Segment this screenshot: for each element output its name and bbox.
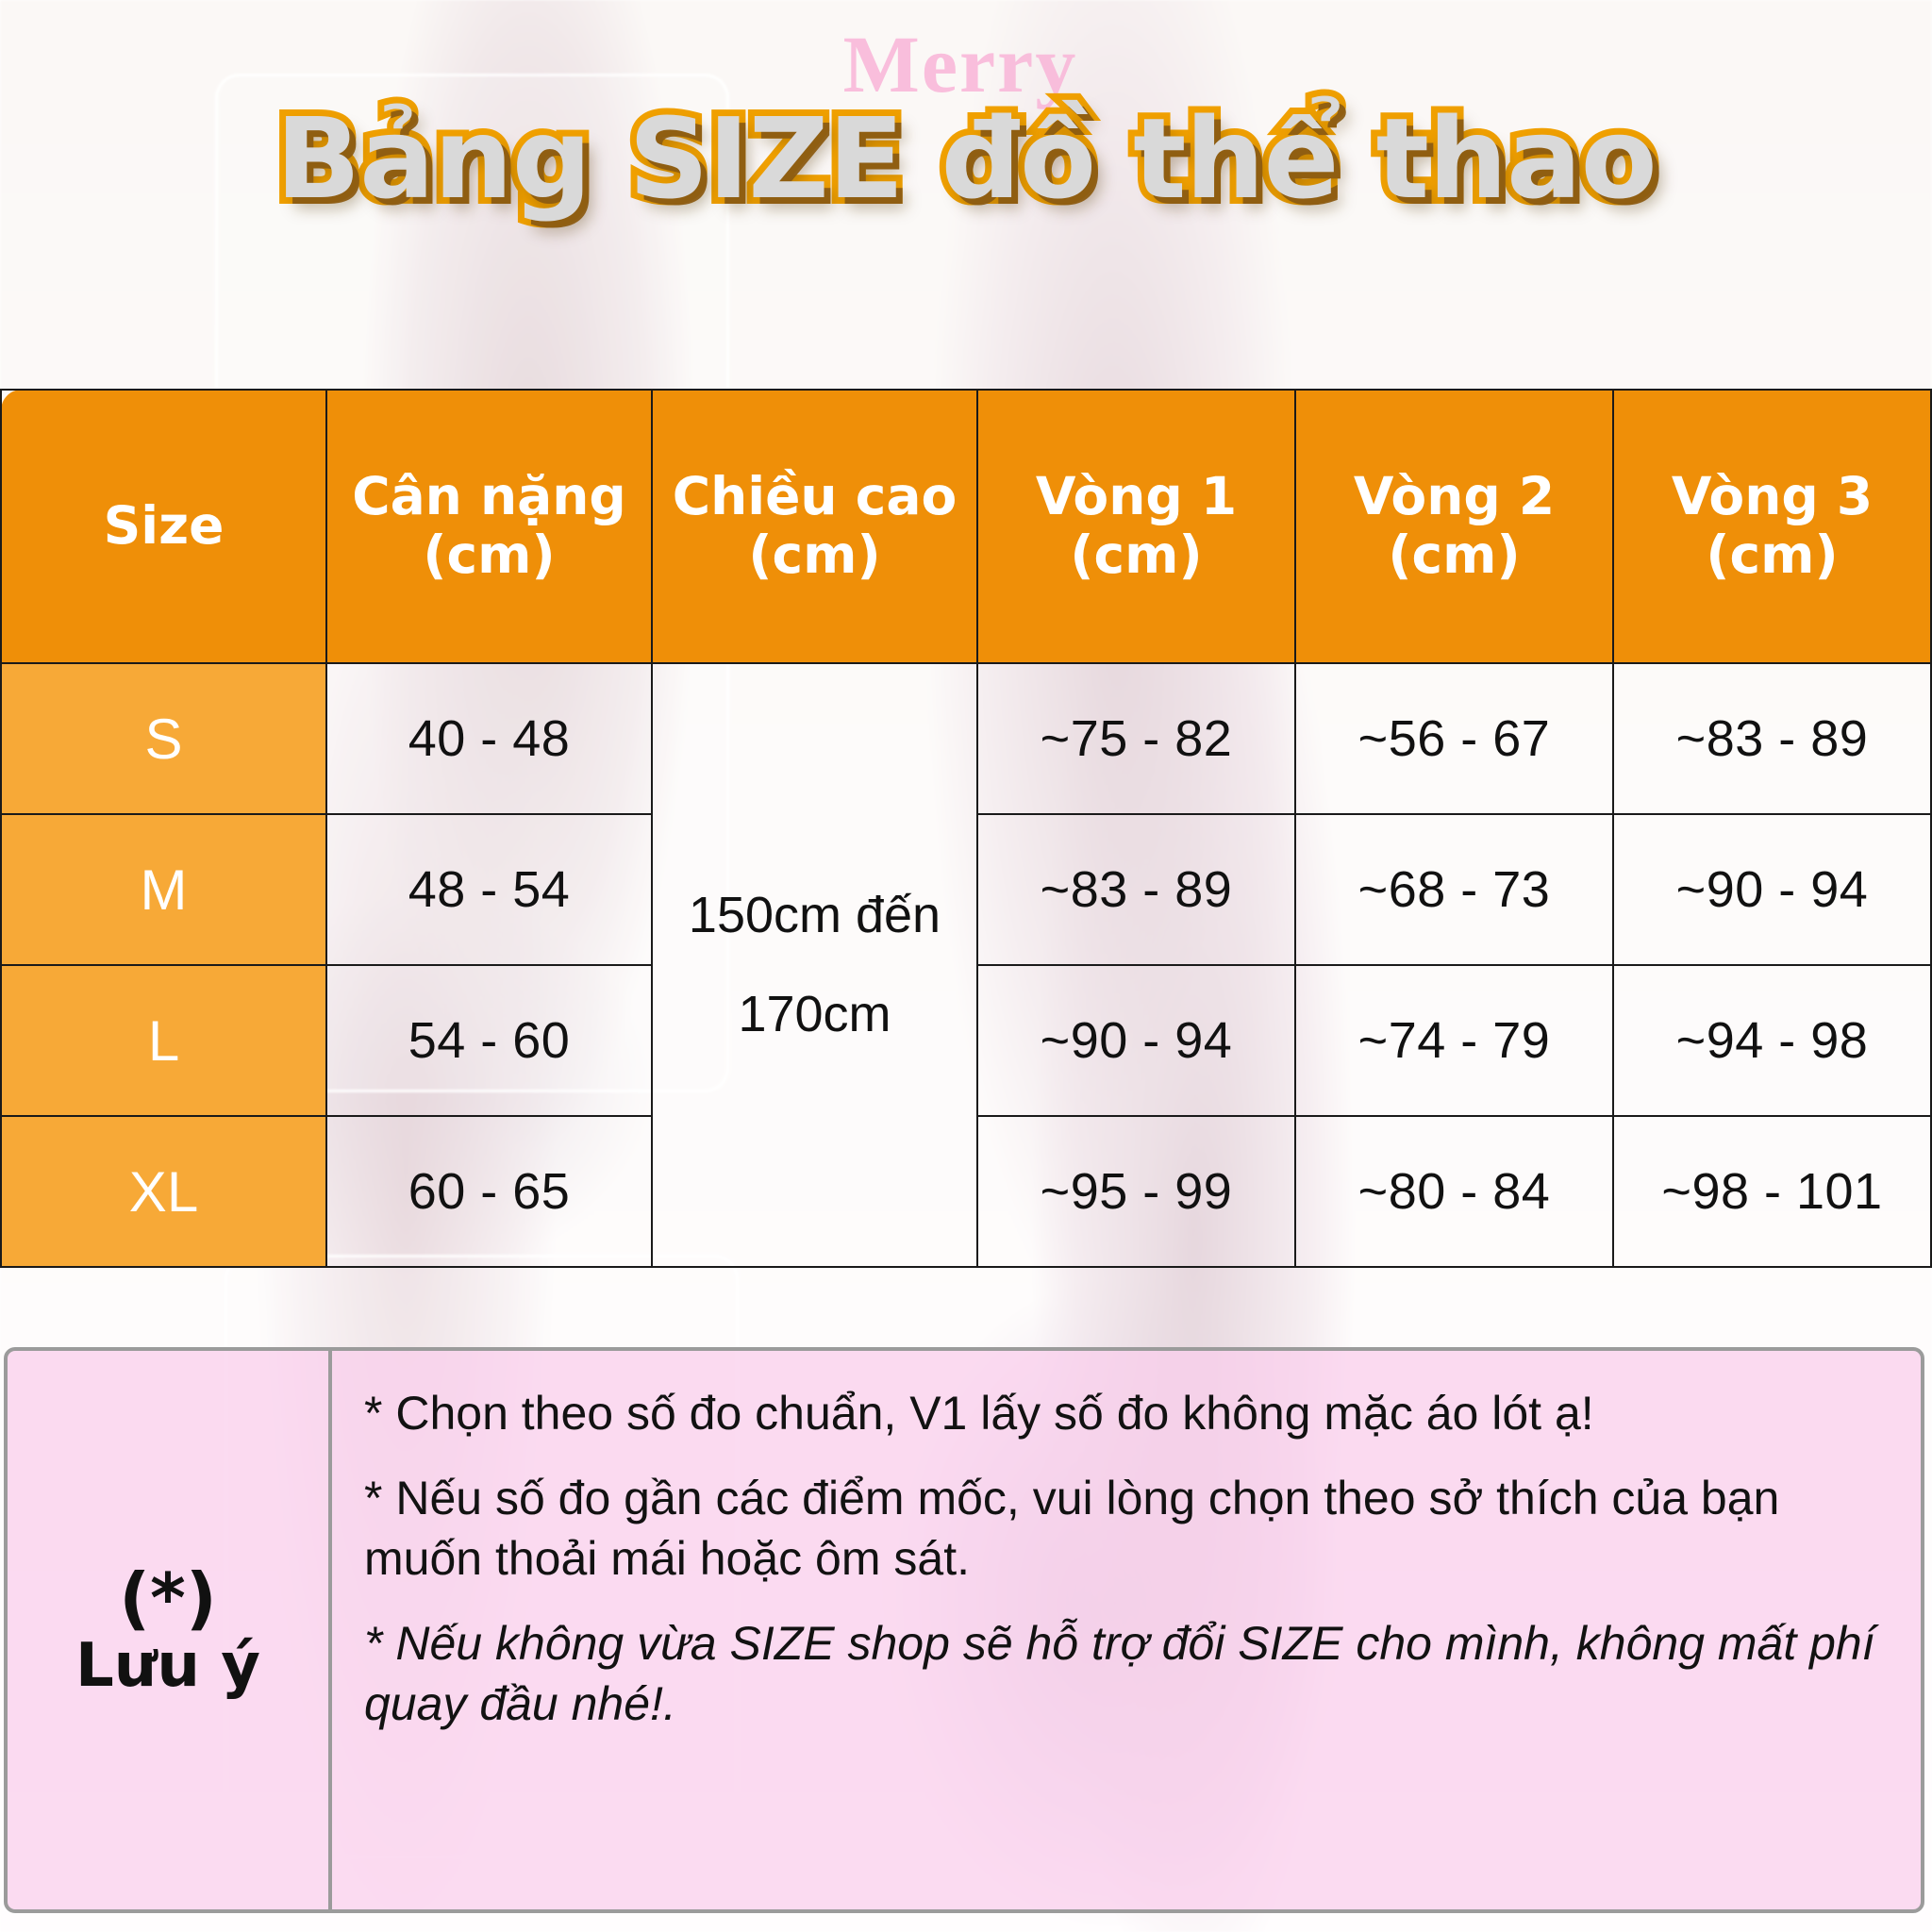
cell-size: M [1, 814, 326, 965]
header-height: Chiều cao (cm) [652, 390, 977, 663]
cell-waist: ~80 - 84 [1295, 1116, 1613, 1267]
cell-hip: ~98 - 101 [1613, 1116, 1931, 1267]
notes-label: (*) Lưu ý [8, 1351, 332, 1909]
cell-weight: 40 - 48 [326, 663, 652, 814]
header-hip: Vòng 3 (cm) [1613, 390, 1931, 663]
note-line-2: * Nếu số đo gần các điểm mốc, vui lòng c… [364, 1468, 1883, 1589]
notes-body: * Chọn theo số đo chuẩn, V1 lấy số đo kh… [332, 1351, 1921, 1909]
size-chart-table: Size Cân nặng (cm) Chiều cao (cm) Vòng 1… [0, 389, 1932, 1268]
page-title-text: Bảng SIZE đồ thể thao [275, 93, 1657, 224]
cell-size: XL [1, 1116, 326, 1267]
header-weight: Cân nặng (cm) [326, 390, 652, 663]
cell-hip: ~90 - 94 [1613, 814, 1931, 965]
cell-weight: 60 - 65 [326, 1116, 652, 1267]
page-title: Bảng SIZE đồ thể thao [0, 83, 1932, 234]
cell-hip: ~83 - 89 [1613, 663, 1931, 814]
cell-waist: ~56 - 67 [1295, 663, 1613, 814]
cell-bust: ~83 - 89 [977, 814, 1295, 965]
cell-bust: ~75 - 82 [977, 663, 1295, 814]
notes-label-text: Lưu ý [75, 1636, 260, 1696]
cell-size: L [1, 965, 326, 1116]
header-size: Size [1, 390, 326, 663]
header-waist: Vòng 2 (cm) [1295, 390, 1613, 663]
note-line-3: * Nếu không vừa SIZE shop sẽ hỗ trợ đổi … [364, 1613, 1883, 1734]
note-line-1: * Chọn theo số đo chuẩn, V1 lấy số đo kh… [364, 1383, 1883, 1443]
cell-bust: ~95 - 99 [977, 1116, 1295, 1267]
cell-weight: 54 - 60 [326, 965, 652, 1116]
cell-bust: ~90 - 94 [977, 965, 1295, 1116]
header-bust: Vòng 1 (cm) [977, 390, 1295, 663]
cell-size: S [1, 663, 326, 814]
cell-hip: ~94 - 98 [1613, 965, 1931, 1116]
cell-weight: 48 - 54 [326, 814, 652, 965]
cell-height-merged: 150cm đến 170cm [652, 663, 977, 1267]
asterisk-icon: (*) [119, 1564, 216, 1632]
table-header-row: Size Cân nặng (cm) Chiều cao (cm) Vòng 1… [1, 390, 1931, 663]
notes-panel: (*) Lưu ý * Chọn theo số đo chuẩn, V1 lấ… [4, 1347, 1924, 1913]
cell-waist: ~74 - 79 [1295, 965, 1613, 1116]
cell-waist: ~68 - 73 [1295, 814, 1613, 965]
table-row: S 40 - 48 150cm đến 170cm ~75 - 82 ~56 -… [1, 663, 1931, 814]
